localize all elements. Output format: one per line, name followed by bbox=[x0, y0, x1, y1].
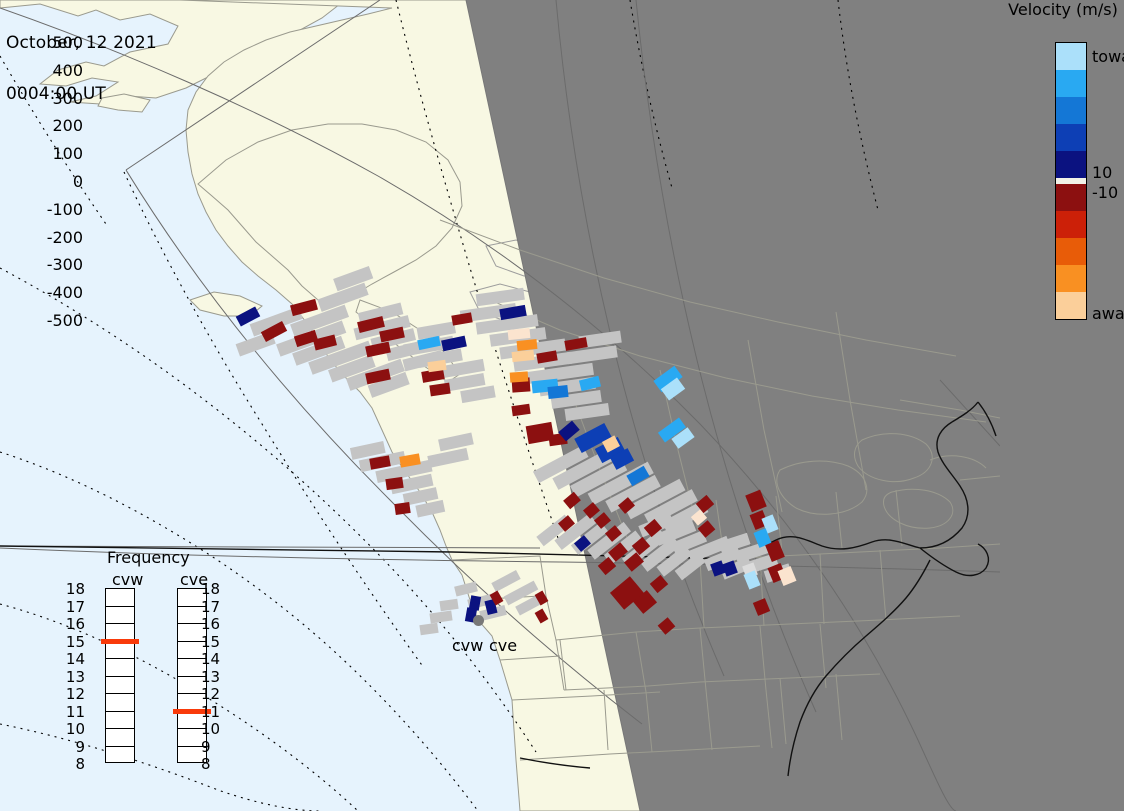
colorbar-tick: -400 bbox=[47, 283, 83, 302]
colorbar-band bbox=[1056, 211, 1086, 239]
frequency-bar-segment bbox=[106, 607, 134, 625]
frequency-bar-cvw bbox=[105, 588, 135, 763]
frequency-scale-label: 16 bbox=[201, 615, 220, 633]
velocity-cell bbox=[547, 385, 568, 399]
colorbar-tick: 200 bbox=[52, 116, 83, 135]
frequency-scale-label: 11 bbox=[63, 703, 85, 721]
colorbar-band bbox=[1056, 124, 1086, 152]
frequency-scale-label: 14 bbox=[63, 650, 85, 668]
velocity-cell bbox=[385, 477, 403, 490]
colorbar-band bbox=[1056, 151, 1086, 179]
colorbar-toward-label: toward bbox=[1092, 47, 1124, 66]
colorbar-tick: -100 bbox=[47, 200, 83, 219]
colorbar-tick: 500 bbox=[52, 33, 83, 52]
colorbar-tick: -300 bbox=[47, 255, 83, 274]
frequency-bar-segment bbox=[106, 659, 134, 677]
frequency-bar-segment bbox=[106, 694, 134, 712]
frequency-bar-segment bbox=[106, 729, 134, 747]
frequency-scale-label: 9 bbox=[63, 738, 85, 756]
frequency-scale-label: 14 bbox=[201, 650, 220, 668]
colorbar-band bbox=[1056, 238, 1086, 266]
colorbar-negative-threshold-label: -10 bbox=[1092, 183, 1118, 202]
frequency-column-label-cvw: cvw bbox=[112, 570, 143, 589]
colorbar-band bbox=[1056, 184, 1086, 212]
frequency-scale-label: 17 bbox=[201, 598, 220, 616]
colorbar-title: Velocity (m/s) bbox=[1002, 0, 1124, 19]
frequency-scale-label: 15 bbox=[201, 633, 220, 651]
frequency-scale-label: 12 bbox=[63, 685, 85, 703]
frequency-bar-segment bbox=[106, 712, 134, 730]
colorbar-band bbox=[1056, 97, 1086, 125]
frequency-bar-segment bbox=[106, 747, 134, 765]
frequency-bar-segment bbox=[106, 589, 134, 607]
colorbar-band bbox=[1056, 43, 1086, 71]
frequency-bar-segment bbox=[106, 677, 134, 695]
colorbar-band bbox=[1056, 292, 1086, 319]
colorbar-band bbox=[1056, 70, 1086, 98]
velocity-cell bbox=[510, 371, 529, 382]
radar-site-label-cvw: cvw bbox=[452, 636, 483, 655]
frequency-scale-label: 12 bbox=[201, 685, 220, 703]
colorbar-tick: 400 bbox=[52, 61, 83, 80]
frequency-scale-label: 18 bbox=[63, 580, 85, 598]
map-canvas bbox=[0, 0, 1124, 811]
velocity-cell bbox=[517, 339, 538, 351]
frequency-bar-segment bbox=[106, 642, 134, 660]
velocity-cell bbox=[394, 502, 410, 515]
colorbar-positive-threshold-label: 10 bbox=[1092, 163, 1112, 182]
frequency-scale-label: 8 bbox=[201, 755, 211, 773]
radar-site-marker bbox=[473, 615, 484, 626]
superdarn-fan-plot: October, 12 2021 0004:00 UT Velocity (m/… bbox=[0, 0, 1124, 811]
frequency-scale-label: 9 bbox=[201, 738, 211, 756]
frequency-scale-label: 18 bbox=[201, 580, 220, 598]
colorbar-tick: 0 bbox=[73, 172, 83, 191]
frequency-marker-cvw bbox=[101, 639, 139, 644]
colorbar-tick: -500 bbox=[47, 311, 83, 330]
frequency-scale-label: 11 bbox=[201, 703, 220, 721]
frequency-scale-label: 13 bbox=[201, 668, 220, 686]
frequency-scale-label: 10 bbox=[63, 720, 85, 738]
velocity-colorbar bbox=[1055, 42, 1087, 320]
frequency-scale-label: 8 bbox=[63, 755, 85, 773]
radar-site-label-cve: cve bbox=[489, 636, 517, 655]
colorbar-tick: -200 bbox=[47, 228, 83, 247]
frequency-panel-title: Frequency bbox=[107, 548, 190, 567]
frequency-scale-label: 17 bbox=[63, 598, 85, 616]
frequency-scale-label: 15 bbox=[63, 633, 85, 651]
frequency-scale-label: 16 bbox=[63, 615, 85, 633]
colorbar-away-label: away bbox=[1092, 304, 1124, 323]
colorbar-tick: 100 bbox=[52, 144, 83, 163]
colorbar-tick: 300 bbox=[52, 89, 83, 108]
frequency-scale-label: 10 bbox=[201, 720, 220, 738]
colorbar-band bbox=[1056, 265, 1086, 293]
frequency-scale-label: 13 bbox=[63, 668, 85, 686]
